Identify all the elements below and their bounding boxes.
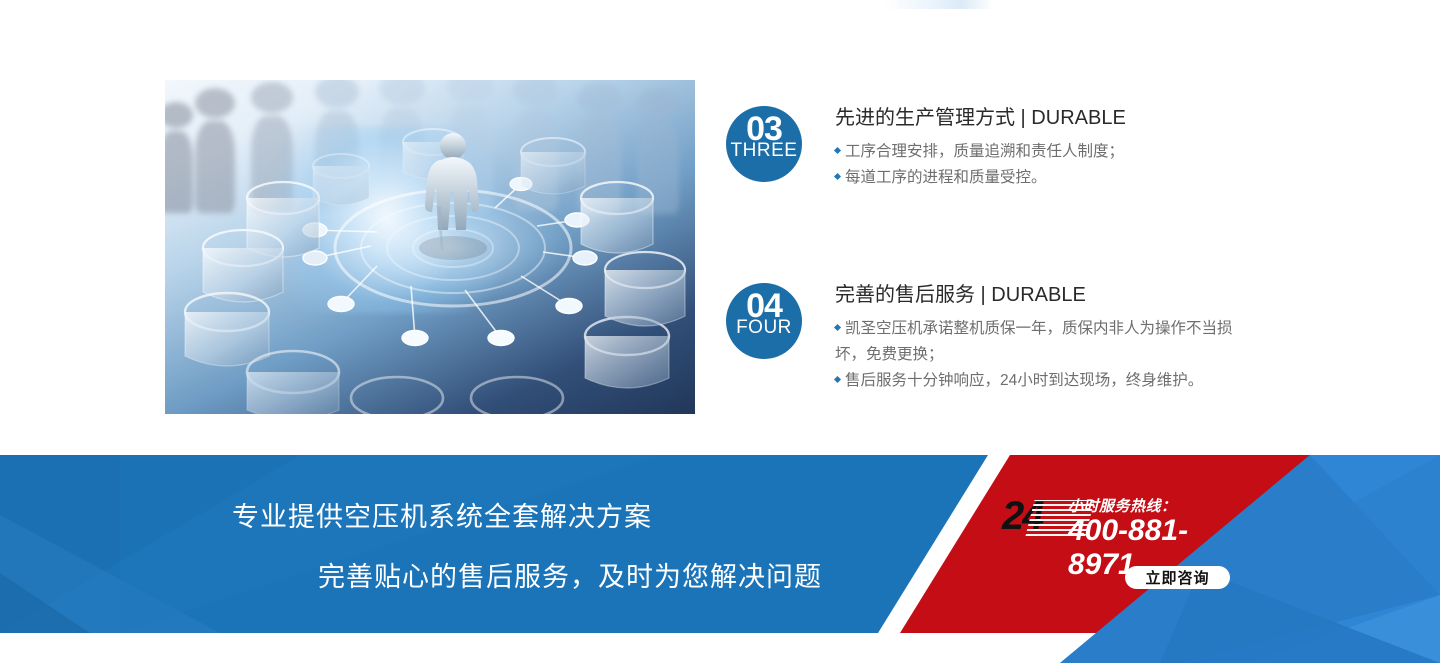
badge-03: 03 THREE — [726, 106, 802, 182]
feature-04-title: 完善的售后服务 | DURABLE — [835, 283, 1245, 307]
banner-headline-group: 专业提供空压机系统全套解决方案 完善贴心的售后服务，及时为您解决问题 — [0, 455, 940, 633]
feature-block-03: 03 THREE 先进的生产管理方式 | DURABLE 工序合理安排，质量追溯… — [726, 106, 1286, 191]
feature-03-text: 先进的生产管理方式 | DURABLE 工序合理安排，质量追溯和责任人制度； 每… — [835, 106, 1126, 191]
feature-03-title: 先进的生产管理方式 | DURABLE — [835, 106, 1126, 130]
consult-now-button[interactable]: 立即咨询 — [1125, 566, 1230, 589]
banner-line-2: 完善贴心的售后服务，及时为您解决问题 — [318, 555, 822, 594]
feature-04-text: 完善的售后服务 | DURABLE 凯圣空压机承诺整机质保一年，质保内非人为操作… — [835, 283, 1245, 394]
bullet-diamond-icon — [834, 324, 841, 331]
page-root: 03 THREE 先进的生产管理方式 | DURABLE 工序合理安排，质量追溯… — [0, 0, 1440, 663]
hero-illustration — [165, 80, 695, 414]
feature-03-line-2: 每道工序的进程和质量受控。 — [835, 165, 1126, 191]
feature-04-line-2-text: 售后服务十分钟响应，24小时到达现场，终身维护。 — [845, 372, 1203, 389]
feature-03-line-1: 工序合理安排，质量追溯和责任人制度； — [835, 139, 1126, 165]
feature-03-line-1-text: 工序合理安排，质量追溯和责任人制度； — [845, 143, 1124, 160]
hotline-label: 小时服务热线： — [1068, 495, 1177, 516]
feature-03-line-2-text: 每道工序的进程和质量受控。 — [845, 169, 1047, 186]
bullet-diamond-icon — [834, 147, 841, 154]
badge-word: FOUR — [726, 317, 802, 339]
feature-block-04: 04 FOUR 完善的售后服务 | DURABLE 凯圣空压机承诺整机质保一年，… — [726, 283, 1246, 394]
feature-04-line-1: 凯圣空压机承诺整机质保一年，质保内非人为操作不当损坏，免费更换； — [835, 316, 1245, 368]
feature-04-line-2: 售后服务十分钟响应，24小时到达现场，终身维护。 — [835, 368, 1245, 394]
banner-line-1: 专业提供空压机系统全套解决方案 — [232, 495, 652, 534]
bullet-diamond-icon — [834, 376, 841, 383]
top-gradient-artifact — [884, 0, 994, 9]
network-diagram — [165, 80, 695, 414]
feature-04-line-1-text: 凯圣空压机承诺整机质保一年，质保内非人为操作不当损坏，免费更换； — [835, 320, 1233, 363]
badge-04: 04 FOUR — [726, 283, 802, 359]
badge-word: THREE — [726, 140, 802, 162]
bullet-diamond-icon — [834, 173, 841, 180]
